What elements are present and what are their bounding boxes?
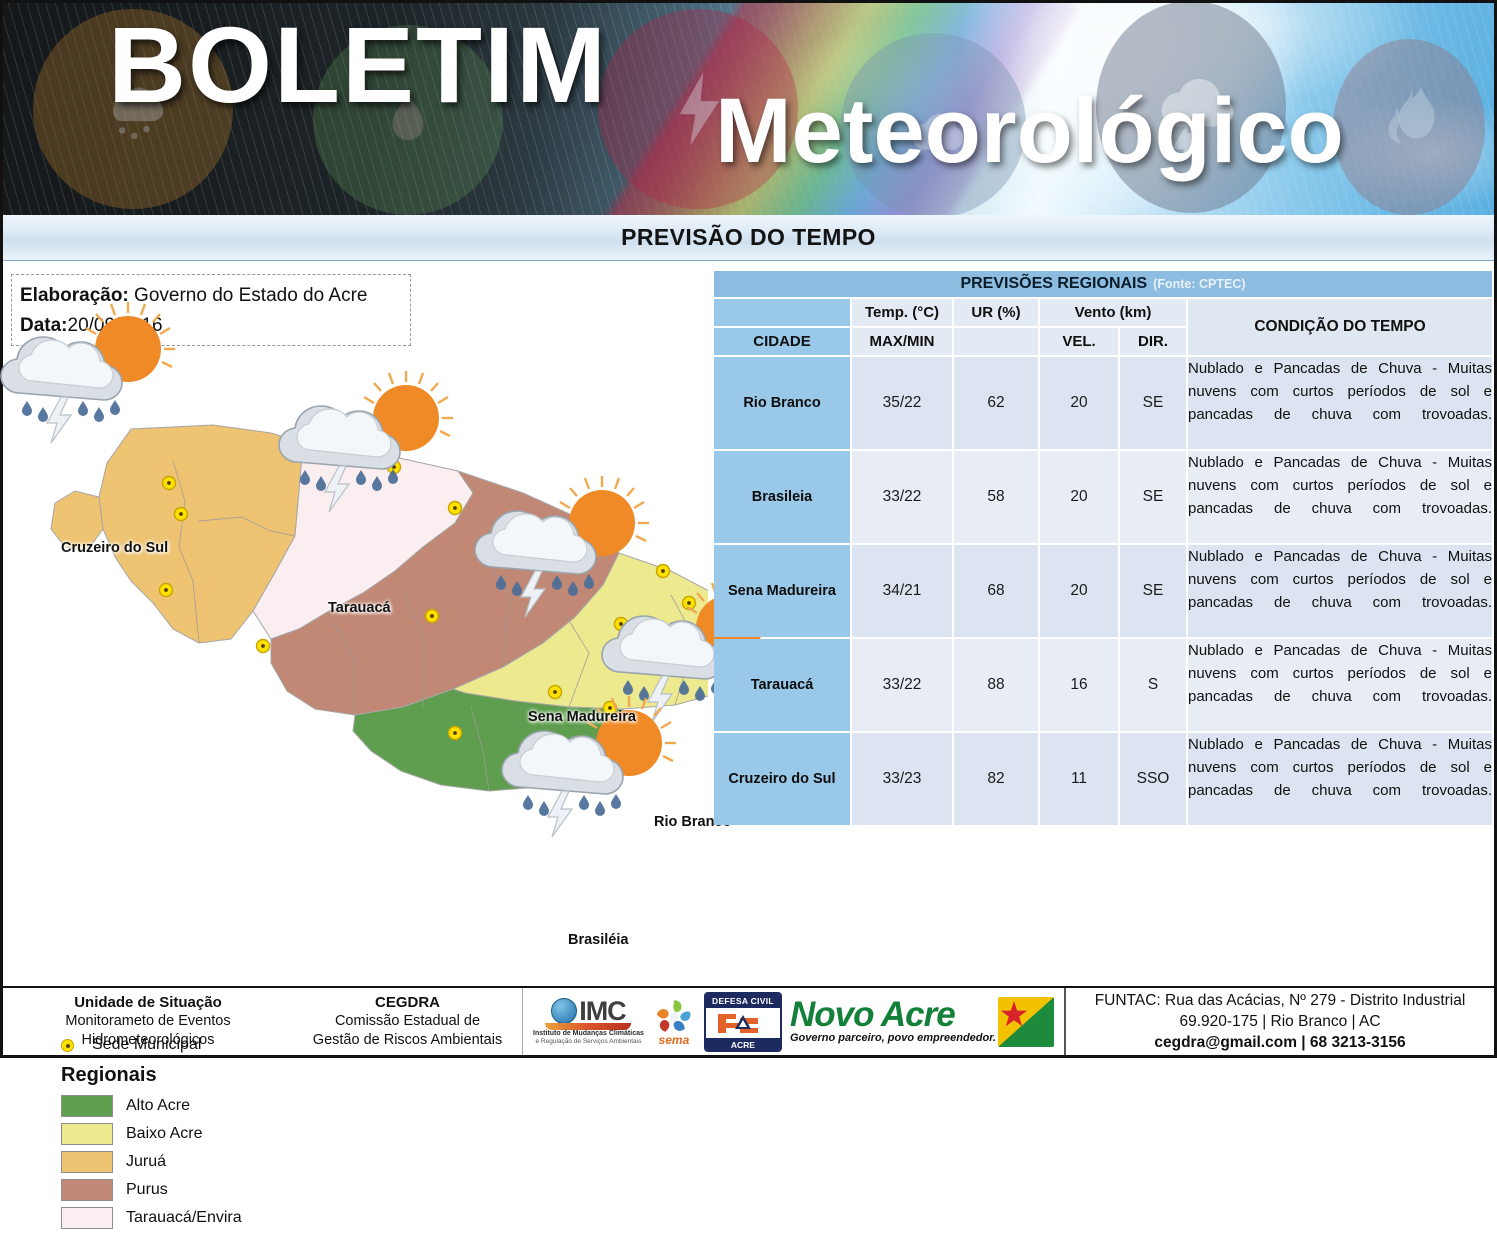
cell-vel: 20	[1040, 357, 1118, 449]
novo-acre-tagline: Governo parceiro, povo empreendedor.	[790, 1032, 996, 1045]
forecast-table: PREVISÕES REGIONAIS(Fonte: CPTEC) Temp. …	[712, 269, 1494, 827]
condicao-text: Nublado e Pancadas de Chuva - Muitas nuv…	[1188, 639, 1492, 731]
legend-label-alto-acre: Alto Acre	[126, 1097, 190, 1115]
unidade-line1: Monitorameto de Eventos	[65, 1012, 230, 1031]
cegdra-title: CEGDRA	[375, 993, 440, 1012]
cell-temp: 33/22	[852, 639, 952, 731]
globe-icon	[551, 998, 577, 1024]
legend-item-purus: Purus	[61, 1179, 321, 1201]
sema-pinwheel-icon	[652, 996, 696, 1036]
defesa-civil-logo: DEFESA CIVIL ACRE	[704, 992, 782, 1052]
novo-acre-text-block: Novo Acre Governo parceiro, povo empreen…	[790, 998, 996, 1045]
header-temp-sub: MAX/MIN	[852, 328, 952, 355]
footer-address-block: FUNTAC: Rua das Acácias, Nº 279 - Distri…	[1064, 988, 1494, 1055]
legend-label-tarauaca-envira: Tarauacá/Envira	[126, 1209, 242, 1227]
novo-acre-title: Novo Acre	[790, 998, 996, 1032]
page-title-bar: PREVISÃO DO TEMPO	[3, 215, 1494, 261]
header-ur-blank	[954, 328, 1038, 355]
map-legend: Sede Municipal Regionais Alto Acre Baixo…	[61, 1036, 321, 1235]
imc-logo-row: IMC	[551, 998, 626, 1025]
cegdra-line1: Comissão Estadual de	[335, 1012, 480, 1031]
table-row: Cruzeiro do Sul 33/23 82 11 SSO Nublado …	[714, 733, 1492, 825]
cell-dir: SE	[1120, 357, 1186, 449]
cell-dir: SE	[1120, 451, 1186, 543]
cell-temp: 33/23	[852, 733, 952, 825]
cell-cidade: Brasileia	[714, 451, 850, 543]
cell-dir: SE	[1120, 545, 1186, 637]
address-line-3: cegdra@gmail.com | 68 3213-3156	[1154, 1032, 1405, 1053]
cell-condicao: Nublado e Pancadas de Chuva - Muitas nuv…	[1188, 545, 1492, 637]
sema-logo: sema	[652, 996, 696, 1047]
defesa-civil-shield-icon	[714, 1008, 772, 1038]
novo-acre-logo: Novo Acre Governo parceiro, povo empreen…	[790, 997, 1054, 1047]
address-line-2: 69.920-175 | Rio Branco | AC	[1179, 1011, 1380, 1032]
cell-temp: 35/22	[852, 357, 952, 449]
banner-header: BOLETIM Meteorológico	[3, 3, 1494, 215]
legend-item-baixo-acre: Baixo Acre	[61, 1123, 321, 1145]
legend-label-purus: Purus	[126, 1181, 168, 1199]
unidade-line2: Hidrometeorológicos	[82, 1031, 215, 1050]
cell-vel: 20	[1040, 545, 1118, 637]
cegdra-line2: Gestão de Riscos Ambientais	[313, 1031, 502, 1050]
header-blank	[714, 299, 850, 326]
table-row: Brasileia 33/22 58 20 SE Nublado e Panca…	[714, 451, 1492, 543]
cell-ur: 58	[954, 451, 1038, 543]
banner-subtitle: Meteorológico	[715, 85, 1344, 177]
legend-item-alto-acre: Alto Acre	[61, 1095, 321, 1117]
flame-icon	[1368, 80, 1450, 174]
imc-caption-2: e Regulação de Serviços Ambientais	[536, 1038, 642, 1045]
legend-swatch-alto-acre	[61, 1095, 113, 1117]
cell-dir: SSO	[1120, 733, 1186, 825]
imc-caption-1: Instituto de Mudanças Climáticas	[533, 1030, 644, 1038]
cell-ur: 82	[954, 733, 1038, 825]
cell-temp: 34/21	[852, 545, 952, 637]
condicao-text: Nublado e Pancadas de Chuva - Muitas nuv…	[1188, 733, 1492, 825]
map-label-brasileia: Brasiléia	[568, 932, 628, 948]
table-title: PREVISÕES REGIONAIS	[960, 275, 1147, 292]
header-dir: DIR.	[1120, 328, 1186, 355]
cell-ur: 68	[954, 545, 1038, 637]
header-vel: VEL.	[1040, 328, 1118, 355]
condicao-text: Nublado e Pancadas de Chuva - Muitas nuv…	[1188, 357, 1492, 449]
condicao-text: Nublado e Pancadas de Chuva - Muitas nuv…	[1188, 545, 1492, 637]
table-row: Tarauacá 33/22 88 16 S Nublado e Pancada…	[714, 639, 1492, 731]
defesa-civil-top-text: DEFESA CIVIL	[706, 994, 780, 1008]
left-panel: Elaboração: Governo do Estado do Acre Da…	[3, 261, 708, 979]
legend-swatch-tarauaca-envira	[61, 1207, 113, 1229]
footer-unidade-block: Unidade de Situação Monitorameto de Even…	[3, 988, 293, 1055]
defesa-civil-bottom-text: ACRE	[706, 1038, 780, 1052]
cell-cidade: Rio Branco	[714, 357, 850, 449]
legend-swatch-purus	[61, 1179, 113, 1201]
acre-state-map	[3, 371, 708, 971]
cell-cidade: Cruzeiro do Sul	[714, 733, 850, 825]
header-cidade: CIDADE	[714, 328, 850, 355]
page-title: PREVISÃO DO TEMPO	[621, 224, 876, 251]
cell-condicao: Nublado e Pancadas de Chuva - Muitas nuv…	[1188, 357, 1492, 449]
footer: Unidade de Situação Monitorameto de Even…	[3, 986, 1494, 1055]
header-condicao: CONDIÇÃO DO TEMPO	[1188, 299, 1492, 355]
legend-swatch-baixo-acre	[61, 1123, 113, 1145]
cell-dir: S	[1120, 639, 1186, 731]
cell-condicao: Nublado e Pancadas de Chuva - Muitas nuv…	[1188, 639, 1492, 731]
cell-temp: 33/22	[852, 451, 952, 543]
forecast-table-wrapper: PREVISÕES REGIONAIS(Fonte: CPTEC) Temp. …	[712, 269, 1494, 827]
imc-logo-text: IMC	[579, 998, 626, 1025]
cell-condicao: Nublado e Pancadas de Chuva - Muitas nuv…	[1188, 733, 1492, 825]
banner-circle-flame	[1333, 39, 1485, 215]
acre-flag-icon	[998, 997, 1054, 1047]
legend-label-jurua: Juruá	[126, 1153, 166, 1171]
weather-icon-tarauaca	[275, 366, 475, 536]
header-vento-group: Vento (km)	[1040, 299, 1186, 326]
cell-cidade: Sena Madureira	[714, 545, 850, 637]
table-row: Rio Branco 35/22 62 20 SE Nublado e Panc…	[714, 357, 1492, 449]
address-line-1: FUNTAC: Rua das Acácias, Nº 279 - Distri…	[1095, 990, 1466, 1011]
cell-ur: 88	[954, 639, 1038, 731]
map-label-tarauaca: Tarauacá	[328, 600, 391, 616]
legend-item-jurua: Juruá	[61, 1151, 321, 1173]
map-label-sena-madureira: Sena Madureira	[528, 709, 636, 725]
cell-condicao: Nublado e Pancadas de Chuva - Muitas nuv…	[1188, 451, 1492, 543]
cell-cidade: Tarauacá	[714, 639, 850, 731]
footer-cegdra-block: CEGDRA Comissão Estadual de Gestão de Ri…	[293, 988, 523, 1055]
condicao-text: Nublado e Pancadas de Chuva - Muitas nuv…	[1188, 451, 1492, 543]
cell-ur: 62	[954, 357, 1038, 449]
table-header-row-1: Temp. (°C) UR (%) Vento (km) CONDIÇÃO DO…	[714, 299, 1492, 326]
cell-vel: 20	[1040, 451, 1118, 543]
header-ur: UR (%)	[954, 299, 1038, 326]
cell-vel: 11	[1040, 733, 1118, 825]
table-source: (Fonte: CPTEC)	[1153, 277, 1245, 291]
cell-vel: 16	[1040, 639, 1118, 731]
unidade-title: Unidade de Situação	[74, 993, 222, 1012]
imc-logo: IMC Instituto de Mudanças Climáticas e R…	[533, 998, 644, 1046]
bulletin-page: BOLETIM Meteorológico PREVISÃO DO TEMPO …	[0, 0, 1497, 1058]
map-label-cruzeiro-do-sul: Cruzeiro do Sul	[61, 540, 168, 556]
legend-swatch-jurua	[61, 1151, 113, 1173]
imc-swoosh-graphic	[545, 1023, 631, 1030]
legend-title: Regionais	[61, 1064, 321, 1087]
table-row: Sena Madureira 34/21 68 20 SE Nublado e …	[714, 545, 1492, 637]
legend-label-baixo-acre: Baixo Acre	[126, 1125, 202, 1143]
weather-icon-cruzeiro-do-sul	[0, 297, 197, 467]
banner-title: BOLETIM	[108, 11, 608, 119]
table-title-row: PREVISÕES REGIONAIS(Fonte: CPTEC)	[714, 271, 1492, 297]
legend-item-tarauaca-envira: Tarauacá/Envira	[61, 1207, 321, 1229]
header-temp-group: Temp. (°C)	[852, 299, 952, 326]
footer-logos: IMC Instituto de Mudanças Climáticas e R…	[523, 988, 1064, 1055]
defesa-civil-emblem	[714, 1008, 772, 1038]
table-title-cell: PREVISÕES REGIONAIS(Fonte: CPTEC)	[714, 271, 1492, 297]
